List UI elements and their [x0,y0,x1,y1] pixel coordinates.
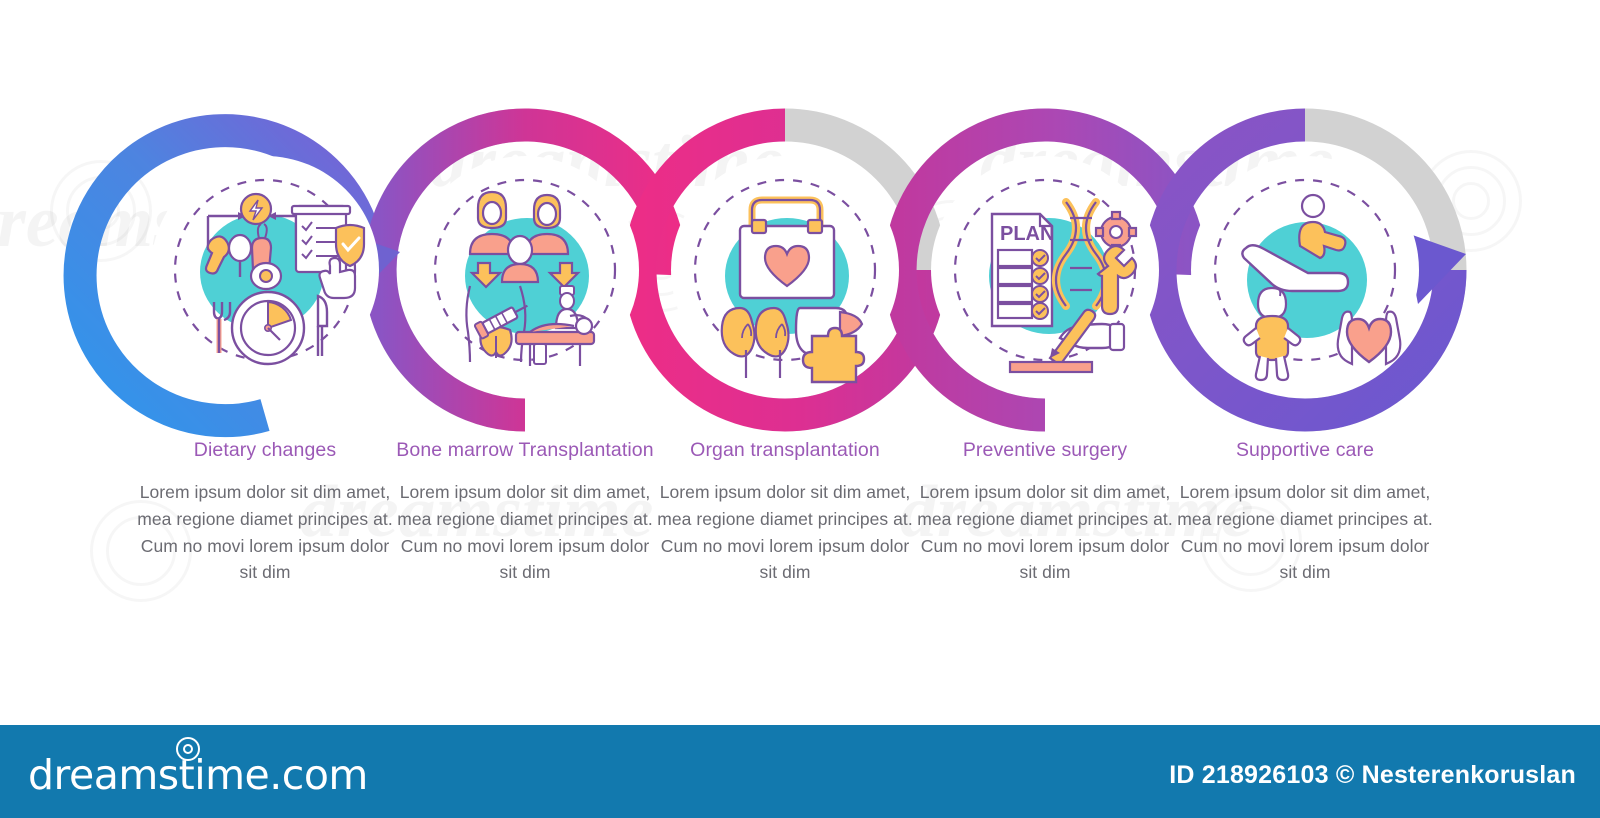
step-title-4: Preventive surgery [915,437,1175,463]
step-title-1: Dietary changes [135,437,395,463]
dreamstime-spiral-icon [176,737,200,761]
step-body-3: Lorem ipsum dolor sit dim amet, mea regi… [655,479,915,585]
step-body-2: Lorem ipsum dolor sit dim amet, mea regi… [395,479,655,585]
dreamstime-logo[interactable]: dreamstime.com [28,751,368,799]
step-4-icon-group[interactable]: PLAN [931,156,1159,384]
step-column-5: Supportive care Lorem ipsum dolor sit di… [1175,437,1435,586]
step-body-4: Lorem ipsum dolor sit dim amet, mea regi… [915,479,1175,585]
step-labels: Dietary changes Lorem ipsum dolor sit di… [0,437,1600,627]
step-column-1: Dietary changes Lorem ipsum dolor sit di… [135,437,395,586]
step-title-2: Bone marrow Transplantation [395,437,655,463]
step-column-3: Organ transplantation Lorem ipsum dolor … [655,437,915,586]
step-column-2: Bone marrow Transplantation Lorem ipsum … [395,437,655,586]
step-title-5: Supportive care [1175,437,1435,463]
dreamstime-logo-text: dreamstime.com [28,751,368,799]
step-body-1: Lorem ipsum dolor sit dim amet, mea regi… [135,479,395,585]
step-title-3: Organ transplantation [655,437,915,463]
plan-label: PLAN [1000,223,1054,245]
step-1-icon-group[interactable] [151,156,379,384]
stock-photo-footer: dreamstime.com ID 218926103 © Nesterenko… [0,725,1600,818]
step-body-5: Lorem ipsum dolor sit dim amet, mea regi… [1175,479,1435,585]
infographic-canvas: dreamstime dreamstime dreamstime dreamst… [0,0,1600,818]
step-column-4: Preventive surgery Lorem ipsum dolor sit… [915,437,1175,586]
step-2-icon-group[interactable] [411,156,639,384]
process-ribbon-chain: PLAN [0,80,1600,440]
step-5-icon-group[interactable] [1191,156,1419,384]
step-3-icon-group[interactable] [671,156,899,384]
image-credit: ID 218926103 © Nesterenkoruslan [1169,761,1576,790]
